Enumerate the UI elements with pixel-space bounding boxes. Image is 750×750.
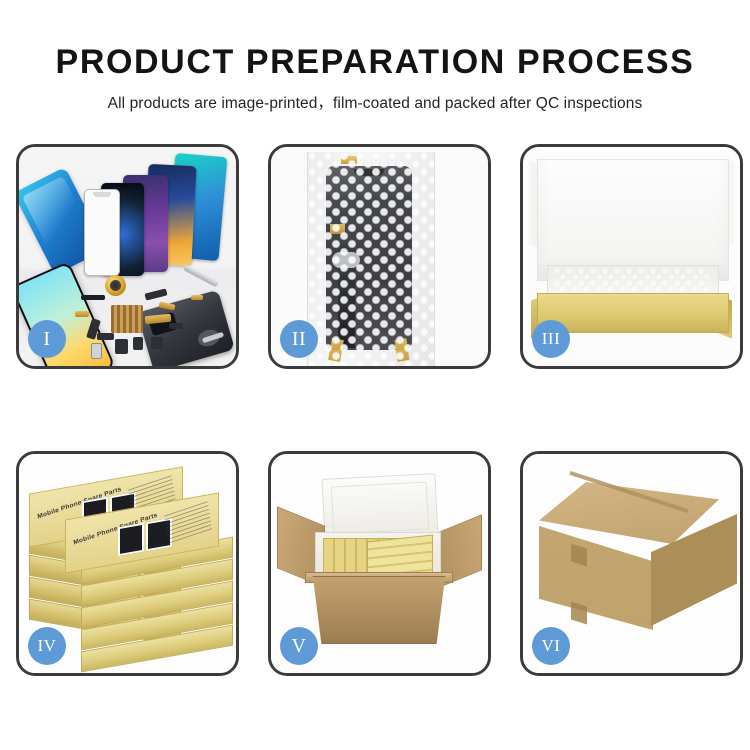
process-step-5: V (268, 451, 491, 676)
step-badge-2: II (280, 320, 318, 358)
step-badge-1: I (28, 320, 66, 358)
phone-screen-1 (84, 189, 120, 276)
carton-front-panel (307, 576, 451, 644)
spare-part (97, 333, 114, 340)
notch (115, 183, 131, 187)
step-badge-5: V (280, 627, 318, 665)
page-subtitle: All products are image-printed，film-coat… (0, 82, 750, 113)
process-step-6: VI (520, 451, 743, 676)
process-step-1: I (16, 144, 239, 369)
bubble-highlights (308, 152, 434, 366)
box-window (118, 523, 144, 557)
box-spec-lines (164, 500, 212, 543)
spare-part (151, 337, 163, 349)
step-badge-4: IV (28, 627, 66, 665)
spare-part (133, 337, 143, 350)
step-badge-6: VI (532, 627, 570, 665)
process-step-grid: I II (0, 144, 750, 676)
spare-part (91, 343, 102, 359)
spare-part (115, 339, 128, 354)
spare-part (191, 295, 203, 300)
process-step-4: Mobile Phone Spare Parts Mobile Phone Sp… (16, 451, 239, 676)
box-lid-panel (537, 159, 729, 281)
process-step-3: III (520, 144, 743, 369)
page-header: PRODUCT PREPARATION PROCESS All products… (0, 0, 750, 113)
spare-part (169, 323, 183, 329)
spare-part (81, 295, 105, 300)
step-badge-3: III (532, 320, 570, 358)
bubble-wrap-bag (307, 152, 435, 366)
spare-part (75, 311, 89, 317)
process-step-2: II (268, 144, 491, 369)
ic-chip-grid-part (111, 305, 143, 333)
page-title: PRODUCT PREPARATION PROCESS (0, 0, 750, 82)
speaker-coil-part (105, 275, 126, 296)
